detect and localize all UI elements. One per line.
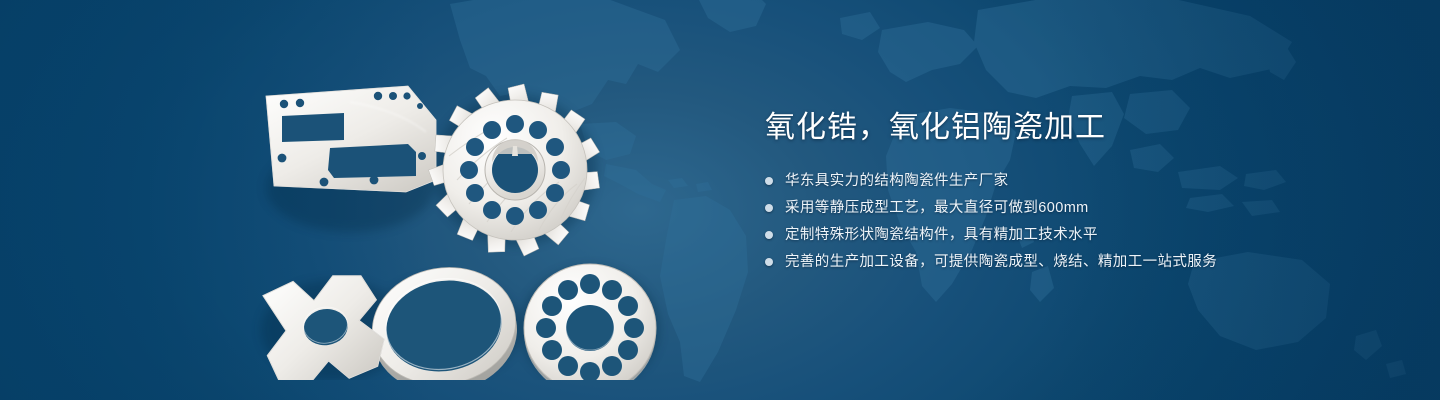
product-photo-cluster [230, 40, 710, 380]
banner-copy: 氧化锆，氧化铝陶瓷加工 华东具实力的结构陶瓷件生产厂家 采用等静压成型工艺，最大… [765, 108, 1325, 278]
ceramic-ring [363, 256, 526, 380]
banner-headline: 氧化锆，氧化铝陶瓷加工 [765, 108, 1325, 148]
bullet-dot-icon [765, 231, 773, 239]
feature-text: 完善的生产加工设备，可提供陶瓷成型、烧结、精加工一站式服务 [785, 251, 1217, 273]
bullet-dot-icon [765, 204, 773, 212]
feature-text: 华东具实力的结构陶瓷件生产厂家 [785, 170, 1009, 192]
bullet-dot-icon [765, 177, 773, 185]
list-item: 华东具实力的结构陶瓷件生产厂家 [765, 170, 1325, 192]
hero-banner: 氧化锆，氧化铝陶瓷加工 华东具实力的结构陶瓷件生产厂家 采用等静压成型工艺，最大… [0, 0, 1440, 400]
bullet-dot-icon [765, 258, 773, 266]
feature-text: 定制特殊形状陶瓷结构件，具有精加工技术水平 [785, 224, 1098, 246]
list-item: 采用等静压成型工艺，最大直径可做到600mm [765, 197, 1325, 219]
list-item: 定制特殊形状陶瓷结构件，具有精加工技术水平 [765, 224, 1325, 246]
ceramic-perforated-disc [524, 264, 656, 380]
ceramic-plate-with-cutouts [266, 86, 436, 192]
list-item: 完善的生产加工设备，可提供陶瓷成型、烧结、精加工一站式服务 [765, 251, 1325, 273]
banner-feature-list: 华东具实力的结构陶瓷件生产厂家 采用等静压成型工艺，最大直径可做到600mm 定… [765, 170, 1325, 273]
feature-text: 采用等静压成型工艺，最大直径可做到600mm [785, 197, 1089, 219]
ceramic-impeller-disc [428, 84, 602, 257]
